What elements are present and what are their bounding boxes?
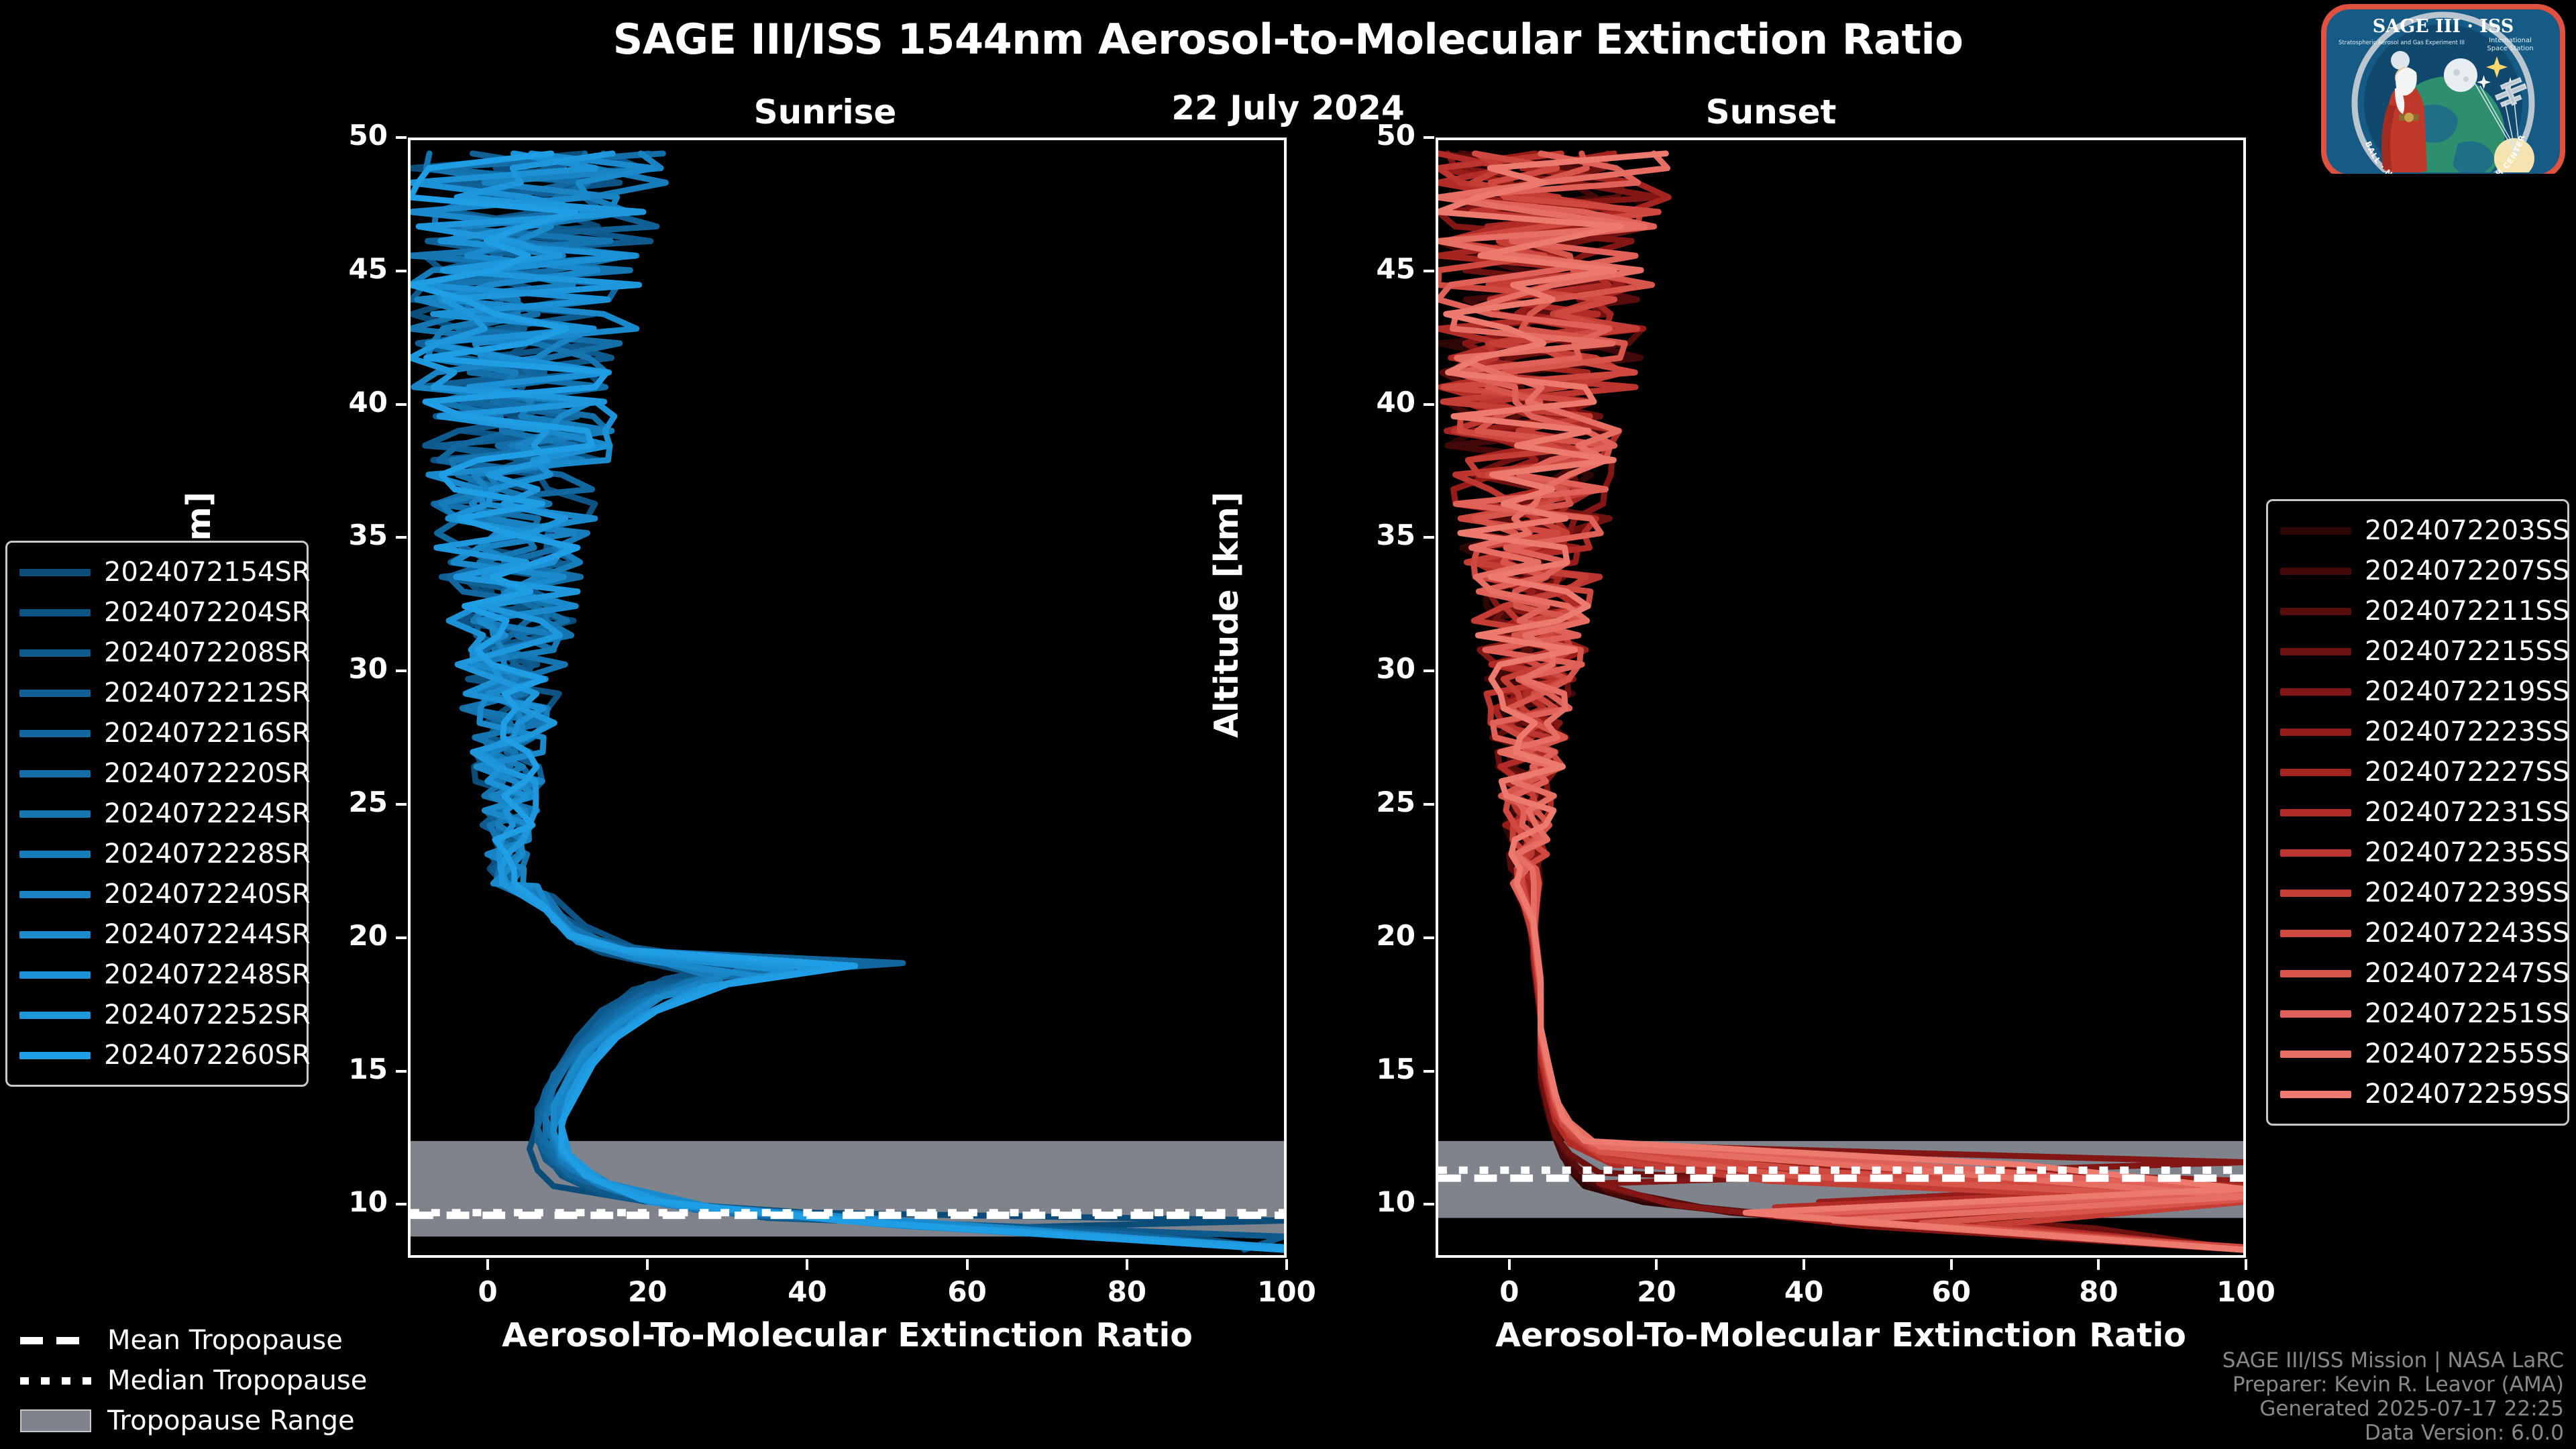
legend-item[interactable]: 2024072251SS	[2280, 994, 2555, 1034]
legend-color-swatch	[19, 649, 91, 657]
x-axis-tick-mark	[646, 1259, 649, 1270]
median-tropopause-label: Median Tropopause	[107, 1365, 367, 1396]
legend-item[interactable]: 2024072154SR	[19, 552, 294, 592]
legend-item[interactable]: 2024072240SR	[19, 874, 294, 914]
legend-item-label: 2024072215SS	[2365, 636, 2569, 667]
legend-item[interactable]: 2024072208SR	[19, 633, 294, 673]
legend-color-swatch	[19, 1052, 91, 1059]
x-axis-tick-mark	[806, 1259, 808, 1270]
y-axis-tick-label: 45	[1335, 252, 1415, 285]
profile-line	[411, 154, 1284, 1247]
legend-color-swatch	[2280, 688, 2351, 696]
y-axis-tick-mark	[396, 1070, 407, 1073]
legend-item[interactable]: 2024072244SR	[19, 914, 294, 955]
sunset-y-axis-title: Altitude [km]	[1207, 492, 1246, 738]
y-axis-tick-label: 20	[1335, 919, 1415, 952]
legend-item-median-tropopause: Median Tropopause	[20, 1360, 449, 1401]
y-axis-tick-mark	[1424, 669, 1434, 672]
y-axis-tick-mark	[1424, 1070, 1434, 1073]
x-axis-tick-mark	[2245, 1259, 2247, 1270]
legend-item-label: 2024072212SR	[104, 678, 311, 708]
legend-item-label: 2024072259SS	[2365, 1079, 2569, 1110]
legend-color-swatch	[2280, 1051, 2351, 1058]
legend-item[interactable]: 2024072204SR	[19, 592, 294, 633]
y-axis-tick-label: 35	[1335, 519, 1415, 551]
legend-item[interactable]: 2024072228SR	[19, 834, 294, 874]
logo-subtitle-left: Stratospheric Aerosol and Gas Experiment…	[2339, 39, 2465, 46]
legend-item-label: 2024072231SS	[2365, 797, 2569, 828]
x-axis-tick-mark	[1803, 1259, 1805, 1270]
legend-color-swatch	[19, 931, 91, 938]
legend-item[interactable]: 2024072259SS	[2280, 1074, 2555, 1114]
y-axis-tick-mark	[396, 803, 407, 806]
legend-color-swatch	[19, 609, 91, 616]
x-axis-tick-mark	[1508, 1259, 1511, 1270]
y-axis-tick-mark	[396, 536, 407, 539]
profile-line	[411, 154, 1284, 1250]
legend-color-swatch	[19, 1012, 91, 1019]
credit-preparer: Preparer: Kevin R. Leavor (AMA)	[2222, 1373, 2564, 1397]
mean-tropopause-swatch	[20, 1337, 91, 1344]
legend-item-label: 2024072235SS	[2365, 837, 2569, 868]
legend-item-tropopause-range: Tropopause Range	[20, 1401, 449, 1441]
legend-item[interactable]: 2024072207SS	[2280, 551, 2555, 591]
page-title: SAGE III/ISS 1544nm Aerosol-to-Molecular…	[0, 15, 2576, 64]
legend-color-swatch	[2280, 648, 2351, 655]
legend-item-label: 2024072252SR	[104, 1000, 311, 1030]
x-axis-tick-label: 80	[1073, 1275, 1181, 1308]
legend-item-label: 2024072260SR	[104, 1040, 311, 1071]
y-axis-tick-label: 10	[307, 1185, 388, 1218]
legend-item[interactable]: 2024072231SS	[2280, 792, 2555, 833]
legend-color-swatch	[19, 810, 91, 818]
y-axis-tick-label: 10	[1335, 1185, 1415, 1218]
legend-item-label: 2024072204SR	[104, 597, 311, 628]
sunset-profile-lines	[1438, 154, 2243, 1250]
sunrise-profile-lines	[411, 154, 1284, 1250]
x-axis-tick-label: 100	[1233, 1275, 1340, 1308]
sunrise-profile-svg	[411, 140, 1284, 1255]
tropopause-range-label: Tropopause Range	[107, 1405, 355, 1436]
y-axis-tick-label: 50	[307, 119, 388, 152]
legend-item[interactable]: 2024072239SS	[2280, 873, 2555, 913]
x-axis-tick-label: 60	[1898, 1275, 2005, 1308]
y-axis-tick-mark	[1424, 1203, 1434, 1205]
legend-item[interactable]: 2024072203SS	[2280, 511, 2555, 551]
y-axis-tick-mark	[1424, 136, 1434, 139]
y-axis-tick-label: 20	[307, 919, 388, 952]
legend-item[interactable]: 2024072215SS	[2280, 631, 2555, 672]
legend-item-label: 2024072239SS	[2365, 877, 2569, 908]
sunset-plot-area[interactable]	[1436, 138, 2246, 1258]
legend-item[interactable]: 2024072224SR	[19, 794, 294, 834]
legend-item[interactable]: 2024072219SS	[2280, 672, 2555, 712]
legend-item-label: 2024072154SR	[104, 557, 311, 588]
sage-iii-iss-mission-patch-logo: SAGE III · ISS Stratospheric Aerosol and…	[2316, 3, 2571, 174]
y-axis-tick-label: 15	[307, 1053, 388, 1085]
legend-color-swatch	[19, 891, 91, 898]
legend-color-swatch	[2280, 769, 2351, 776]
tropopause-range-swatch	[20, 1409, 91, 1432]
profile-line	[411, 154, 1284, 1250]
legend-color-swatch	[2280, 729, 2351, 736]
legend-item[interactable]: 2024072227SS	[2280, 752, 2555, 792]
legend-item[interactable]: 2024072223SS	[2280, 712, 2555, 752]
legend-item[interactable]: 2024072211SS	[2280, 591, 2555, 631]
y-axis-tick-mark	[396, 1203, 407, 1205]
legend-item-label: 2024072216SR	[104, 718, 311, 749]
sunrise-plot-area[interactable]	[408, 138, 1287, 1258]
x-axis-tick-label: 0	[434, 1275, 541, 1308]
x-axis-tick-mark	[486, 1259, 489, 1270]
x-axis-tick-mark	[1285, 1259, 1288, 1270]
y-axis-tick-label: 15	[1335, 1053, 1415, 1085]
mean-tropopause-label: Mean Tropopause	[107, 1325, 343, 1356]
x-axis-tick-label: 20	[1603, 1275, 1710, 1308]
legend-item-label: 2024072220SR	[104, 758, 311, 789]
legend-item[interactable]: 2024072247SS	[2280, 953, 2555, 994]
legend-color-swatch	[19, 851, 91, 858]
legend-item[interactable]: 2024072212SR	[19, 673, 294, 713]
legend-color-swatch	[2280, 568, 2351, 575]
y-axis-tick-label: 40	[307, 386, 388, 419]
profile-line	[414, 154, 1284, 1247]
profile-line	[411, 154, 1284, 1250]
y-axis-tick-mark	[1424, 936, 1434, 939]
legend-color-swatch	[19, 971, 91, 979]
legend-item-mean-tropopause: Mean Tropopause	[20, 1320, 449, 1360]
x-axis-tick-label: 40	[1750, 1275, 1858, 1308]
legend-color-swatch	[2280, 890, 2351, 897]
y-axis-tick-label: 45	[307, 252, 388, 285]
x-axis-tick-mark	[966, 1259, 969, 1270]
legend-color-swatch	[19, 690, 91, 697]
legend-item-label: 2024072251SS	[2365, 998, 2569, 1029]
logo-subtitle-right-2: Space Station	[2487, 45, 2533, 52]
sunrise-x-axis-title: Aerosol-To-Molecular Extinction Ratio	[408, 1316, 1287, 1354]
credit-data-version: Data Version: 6.0.0	[2222, 1421, 2564, 1445]
y-axis-tick-mark	[396, 669, 407, 672]
legend-item-label: 2024072211SS	[2365, 596, 2569, 627]
credit-mission: SAGE III/ISS Mission | NASA LaRC	[2222, 1348, 2564, 1373]
y-axis-tick-mark	[396, 270, 407, 272]
legend-item-label: 2024072224SR	[104, 798, 311, 829]
legend-color-swatch	[19, 569, 91, 576]
legend-item-label: 2024072248SR	[104, 959, 311, 990]
legend-item[interactable]: 2024072220SR	[19, 753, 294, 794]
sunrise-panel-title: Sunrise	[624, 93, 1026, 131]
x-axis-tick-label: 60	[914, 1275, 1021, 1308]
legend-color-swatch	[2280, 970, 2351, 977]
y-axis-tick-label: 30	[307, 652, 388, 685]
y-axis-tick-label: 25	[307, 786, 388, 818]
profile-line	[411, 154, 1284, 1250]
x-axis-tick-mark	[2097, 1259, 2100, 1270]
tropopause-legend: Mean Tropopause Median Tropopause Tropop…	[20, 1320, 449, 1441]
legend-item-label: 2024072223SS	[2365, 716, 2569, 747]
y-axis-tick-mark	[396, 936, 407, 939]
y-axis-tick-label: 50	[1335, 119, 1415, 152]
legend-item-label: 2024072227SS	[2365, 757, 2569, 788]
x-axis-tick-label: 100	[2192, 1275, 2300, 1308]
credits-block: SAGE III/ISS Mission | NASA LaRC Prepare…	[2222, 1348, 2564, 1445]
legend-item[interactable]: 2024072248SR	[19, 955, 294, 995]
x-axis-tick-label: 80	[2045, 1275, 2152, 1308]
y-axis-tick-label: 30	[1335, 652, 1415, 685]
y-axis-tick-mark	[1424, 403, 1434, 406]
y-axis-tick-mark	[1424, 536, 1434, 539]
x-axis-tick-mark	[1655, 1259, 1658, 1270]
y-axis-tick-label: 40	[1335, 386, 1415, 419]
x-axis-tick-mark	[1126, 1259, 1128, 1270]
sunset-profile-svg	[1438, 140, 2243, 1255]
x-axis-tick-mark	[1950, 1259, 1953, 1270]
logo-title: SAGE III · ISS	[2373, 16, 2514, 37]
y-axis-tick-label: 35	[307, 519, 388, 551]
x-axis-tick-label: 0	[1456, 1275, 1563, 1308]
legend-item[interactable]: 2024072255SS	[2280, 1034, 2555, 1074]
legend-color-swatch	[2280, 527, 2351, 535]
legend-item[interactable]: 2024072243SS	[2280, 913, 2555, 953]
legend-item-label: 2024072244SR	[104, 919, 311, 950]
credit-generated: Generated 2025-07-17 22:25	[2222, 1397, 2564, 1421]
legend-color-swatch	[19, 730, 91, 737]
legend-item-label: 2024072208SR	[104, 637, 311, 668]
legend-item-label: 2024072240SR	[104, 879, 311, 910]
legend-item-label: 2024072243SS	[2365, 918, 2569, 949]
legend-item[interactable]: 2024072235SS	[2280, 833, 2555, 873]
median-tropopause-swatch	[20, 1377, 91, 1385]
sunset-x-axis-title: Aerosol-To-Molecular Extinction Ratio	[1436, 1316, 2246, 1354]
logo-subtitle-right-1: International	[2489, 37, 2532, 44]
legend-color-swatch	[2280, 608, 2351, 615]
profile-line	[411, 154, 1284, 1250]
legend-item-label: 2024072207SS	[2365, 555, 2569, 586]
sunrise-legend[interactable]: 2024072154SR2024072204SR2024072208SR2024…	[5, 541, 309, 1087]
legend-item-label: 2024072228SR	[104, 839, 311, 869]
sunset-panel-title: Sunset	[1570, 93, 1972, 131]
y-axis-tick-mark	[396, 136, 407, 139]
x-axis-tick-label: 20	[594, 1275, 701, 1308]
legend-item-label: 2024072203SS	[2365, 515, 2569, 546]
legend-item-label: 2024072247SS	[2365, 958, 2569, 989]
sunrise-tropopause-lines	[411, 1213, 1284, 1216]
legend-color-swatch	[2280, 930, 2351, 937]
legend-item-label: 2024072255SS	[2365, 1038, 2569, 1069]
legend-color-swatch	[2280, 809, 2351, 816]
legend-color-swatch	[19, 770, 91, 777]
y-axis-tick-mark	[1424, 270, 1434, 272]
legend-item-label: 2024072219SS	[2365, 676, 2569, 707]
y-axis-tick-label: 25	[1335, 786, 1415, 818]
legend-color-swatch	[2280, 1091, 2351, 1098]
legend-color-swatch	[2280, 1010, 2351, 1018]
legend-item[interactable]: 2024072216SR	[19, 713, 294, 753]
sunset-legend[interactable]: 2024072203SS2024072207SS2024072211SS2024…	[2266, 499, 2569, 1126]
legend-item[interactable]: 2024072260SR	[19, 1035, 294, 1075]
x-axis-tick-label: 40	[753, 1275, 861, 1308]
y-axis-tick-mark	[1424, 803, 1434, 806]
y-axis-tick-mark	[396, 403, 407, 406]
legend-color-swatch	[2280, 849, 2351, 857]
legend-item[interactable]: 2024072252SR	[19, 995, 294, 1035]
profile-line	[411, 154, 1284, 1250]
profile-line	[411, 154, 1284, 1250]
